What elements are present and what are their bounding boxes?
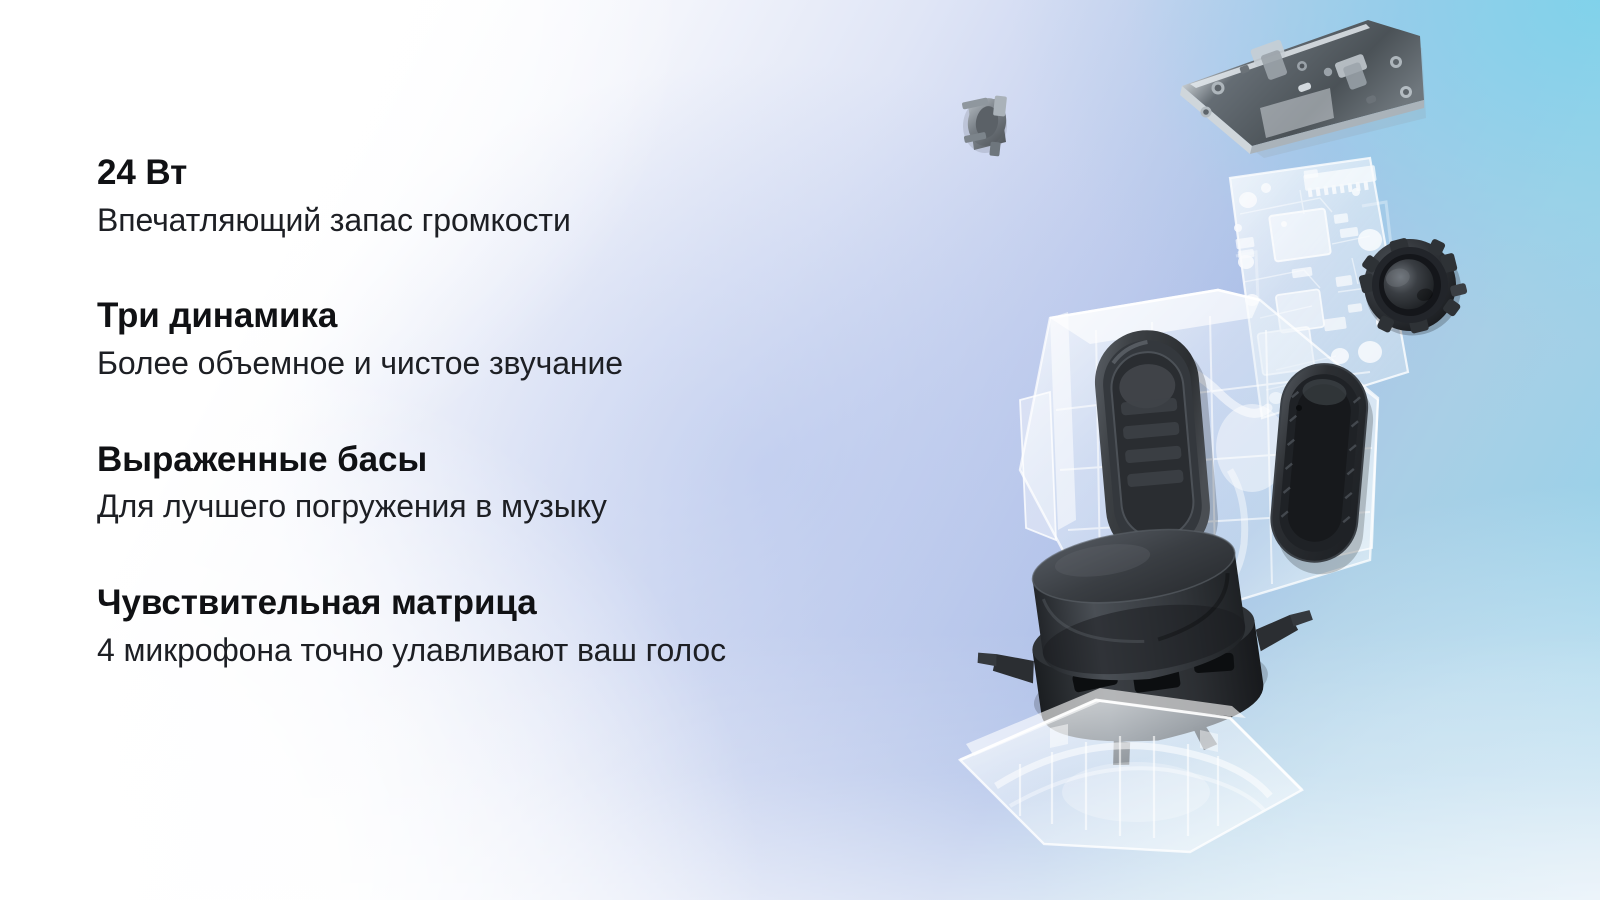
feature-item-power: 24 Вт Впечатляющий запас громкости (97, 152, 917, 241)
product-exploded-view (900, 0, 1600, 900)
banner-canvas: 24 Вт Впечатляющий запас громкости Три д… (0, 0, 1600, 900)
feature-item-microphones: Чувствительная матрица 4 микрофона точно… (97, 582, 917, 671)
feature-title: 24 Вт (97, 152, 917, 195)
feature-subtitle: Впечатляющий запас громкости (97, 200, 917, 242)
part-base-plate (960, 688, 1302, 852)
part-metal-bracket (1180, 20, 1426, 158)
feature-list: 24 Вт Впечатляющий запас громкости Три д… (97, 152, 917, 671)
feature-subtitle: Более объемное и чистое звучание (97, 343, 917, 385)
feature-item-speakers: Три динамика Более объемное и чистое зву… (97, 295, 917, 384)
feature-title: Три динамика (97, 295, 917, 338)
part-mic-capsule (962, 95, 1010, 156)
feature-subtitle: Для лучшего погружения в музыку (97, 486, 917, 528)
feature-subtitle: 4 микрофона точно улавливают ваш голос (97, 630, 917, 672)
feature-title: Чувствительная матрица (97, 582, 917, 625)
feature-title: Выраженные басы (97, 439, 917, 482)
feature-item-bass: Выраженные басы Для лучшего погружения в… (97, 439, 917, 528)
